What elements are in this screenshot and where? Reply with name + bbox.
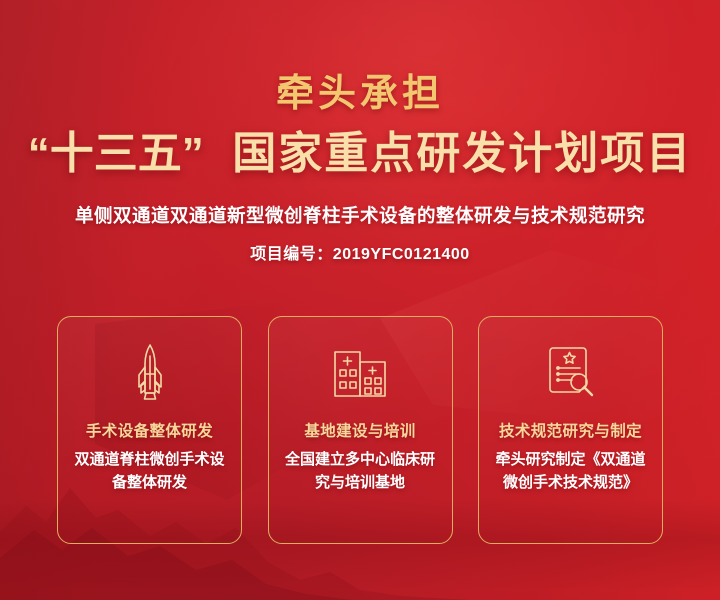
card-title: 基地建设与培训 [304, 419, 415, 441]
card-title: 技术规范研究与制定 [499, 419, 642, 441]
poster-canvas: 牵头承担 “十三五” 国家重点研发计划项目 单侧双通道双通道新型微创脊柱手术设备… [0, 0, 720, 600]
card-base-construction-training[interactable]: 基地建设与培训 全国建立多中心临床研究与培训基地 [268, 316, 453, 544]
hospital-building-icon [331, 343, 389, 401]
card-description: 双通道脊柱微创手术设备整体研发 [70, 449, 230, 494]
rocket-icon [130, 343, 170, 401]
document-magnifier-icon [545, 343, 597, 401]
card-technical-standard[interactable]: 技术规范研究与制定 牵头研究制定《双通道微创手术技术规范》 [478, 316, 663, 544]
project-number: 项目编号：2019YFC0121400 [0, 240, 720, 264]
card-surgical-equipment[interactable]: 手术设备整体研发 双通道脊柱微创手术设备整体研发 [57, 316, 242, 544]
poster-subtitle: 单侧双通道双通道新型微创脊柱手术设备的整体研发与技术规范研究 [0, 202, 720, 228]
card-description: 全国建立多中心临床研究与培训基地 [280, 449, 440, 494]
title-quoted-part: “十三五” [28, 129, 204, 178]
card-title: 手术设备整体研发 [86, 419, 213, 441]
poster-kicker: 牵头承担 [0, 74, 720, 116]
title-main-part: 国家重点研发计划项目 [232, 129, 692, 178]
page-title: “十三五” 国家重点研发计划项目 [0, 128, 720, 180]
headline-block: 牵头承担 “十三五” 国家重点研发计划项目 单侧双通道双通道新型微创脊柱手术设备… [0, 74, 720, 264]
card-description: 牵头研究制定《双通道微创手术技术规范》 [491, 449, 651, 494]
card-group: 手术设备整体研发 双通道脊柱微创手术设备整体研发 [57, 316, 663, 544]
